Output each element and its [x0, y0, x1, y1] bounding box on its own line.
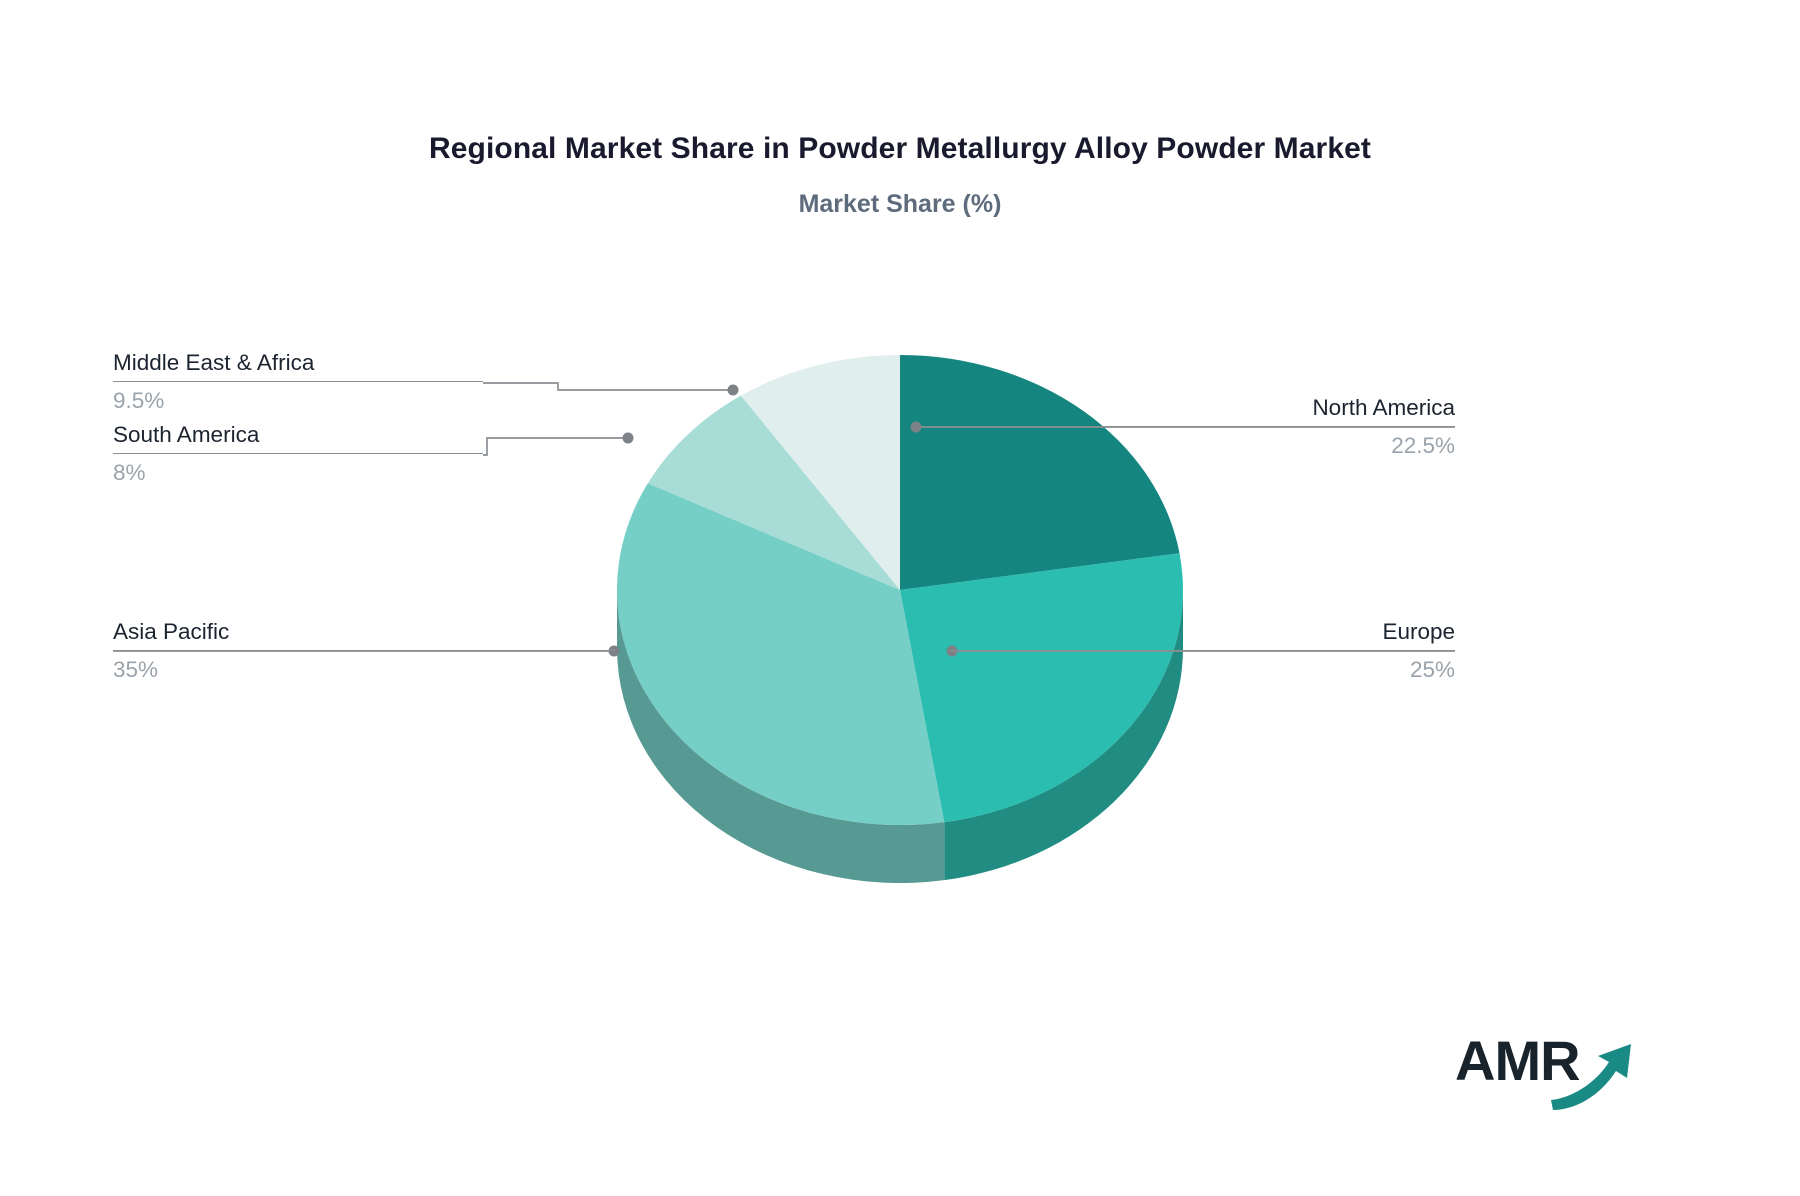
callout-north-america: North America 22.5% — [1084, 393, 1455, 461]
callout-rule — [1084, 426, 1455, 427]
callout-label-north-america: North America — [1084, 393, 1455, 423]
chart-canvas: Regional Market Share in Powder Metallur… — [0, 0, 1800, 1196]
callout-value-north-america: 22.5% — [1084, 431, 1455, 461]
callout-value-south-america: 8% — [113, 458, 483, 488]
callout-rule — [113, 381, 483, 382]
callout-rule — [113, 650, 616, 651]
callout-south-america: South America 8% — [113, 420, 483, 488]
callout-europe: Europe 25% — [950, 617, 1455, 685]
callout-value-asia-pacific: 35% — [113, 655, 616, 685]
callout-rule — [113, 453, 483, 454]
amr-logo-svg: AMR — [1455, 1022, 1655, 1122]
callout-label-south-america: South America — [113, 420, 483, 450]
pie-slice-europe[interactable] — [900, 553, 1183, 822]
callout-asia-pacific: Asia Pacific 35% — [113, 617, 616, 685]
callout-value-europe: 25% — [950, 655, 1455, 685]
callout-value-middle-east-africa: 9.5% — [113, 386, 483, 416]
chart-title: Regional Market Share in Powder Metallur… — [0, 132, 1800, 166]
callout-middle-east-africa: Middle East & Africa 9.5% — [113, 348, 483, 416]
amr-wordmark: AMR — [1455, 1029, 1580, 1092]
amr-logo: AMR — [1455, 1022, 1655, 1122]
pie-slice-north-america[interactable] — [900, 355, 1180, 590]
callout-rule — [950, 650, 1455, 651]
callout-label-europe: Europe — [950, 617, 1455, 647]
chart-subtitle: Market Share (%) — [0, 190, 1800, 219]
callout-label-middle-east-africa: Middle East & Africa — [113, 348, 483, 378]
callout-label-asia-pacific: Asia Pacific — [113, 617, 616, 647]
